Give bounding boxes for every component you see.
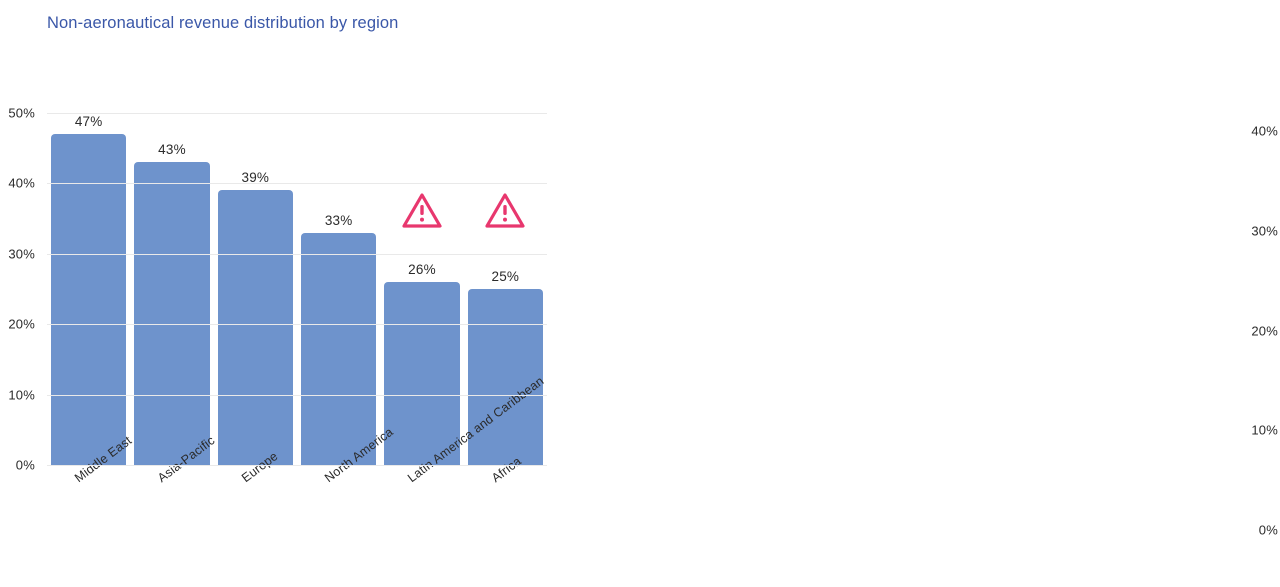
bar-series-by-region: 47%43%39%33%26%25%: [47, 113, 547, 465]
y-axis-tick-label: 10%: [8, 387, 35, 402]
plot-area-by-region: 47%43%39%33%26%25% Middle EastAsia-Pacif…: [47, 113, 547, 465]
bar-group[interactable]: 43%: [130, 113, 213, 465]
bar[interactable]: [134, 162, 209, 465]
bar[interactable]: [218, 190, 293, 465]
y-axis-tick-label: 10%: [1251, 423, 1278, 438]
gridline: [47, 465, 547, 466]
y-axis-tick-label: 30%: [8, 246, 35, 261]
chart-page: Non-aeronautical revenue distribution by…: [0, 0, 1280, 587]
chart-title-by-region: Non-aeronautical revenue distribution by…: [47, 14, 398, 33]
gridline: [47, 254, 547, 255]
y-axis-tick-label: 40%: [1251, 124, 1278, 139]
warning-annotation: [380, 113, 463, 465]
y-axis-tick-label: 0%: [16, 458, 35, 473]
bar-value-label: 33%: [297, 213, 380, 228]
bar-group[interactable]: 39%: [214, 113, 297, 465]
gridline: [47, 324, 547, 325]
warning-triangle-icon: [401, 191, 443, 229]
y-axis-tick-label: 50%: [8, 106, 35, 121]
bar-group[interactable]: 47%: [47, 113, 130, 465]
chart-panel-by-size: Non-aeronautical revenue distribution by…: [640, 0, 1280, 587]
y-axis-tick-label: 40%: [8, 176, 35, 191]
y-axis-tick-label: 30%: [1251, 223, 1278, 238]
chart-panel-by-region: Non-aeronautical revenue distribution by…: [0, 0, 640, 587]
bar-group[interactable]: 33%: [297, 113, 380, 465]
bar[interactable]: [301, 233, 376, 465]
y-axis-tick-label: 20%: [1251, 323, 1278, 338]
warning-triangle-icon: [484, 191, 526, 229]
gridline: [47, 183, 547, 184]
bar-value-label: 43%: [130, 142, 213, 157]
y-axis-tick-label: 0%: [1259, 523, 1278, 538]
bar-value-label: 47%: [47, 114, 130, 129]
y-axis-tick-label: 20%: [8, 317, 35, 332]
gridline: [47, 113, 547, 114]
gridline: [47, 395, 547, 396]
